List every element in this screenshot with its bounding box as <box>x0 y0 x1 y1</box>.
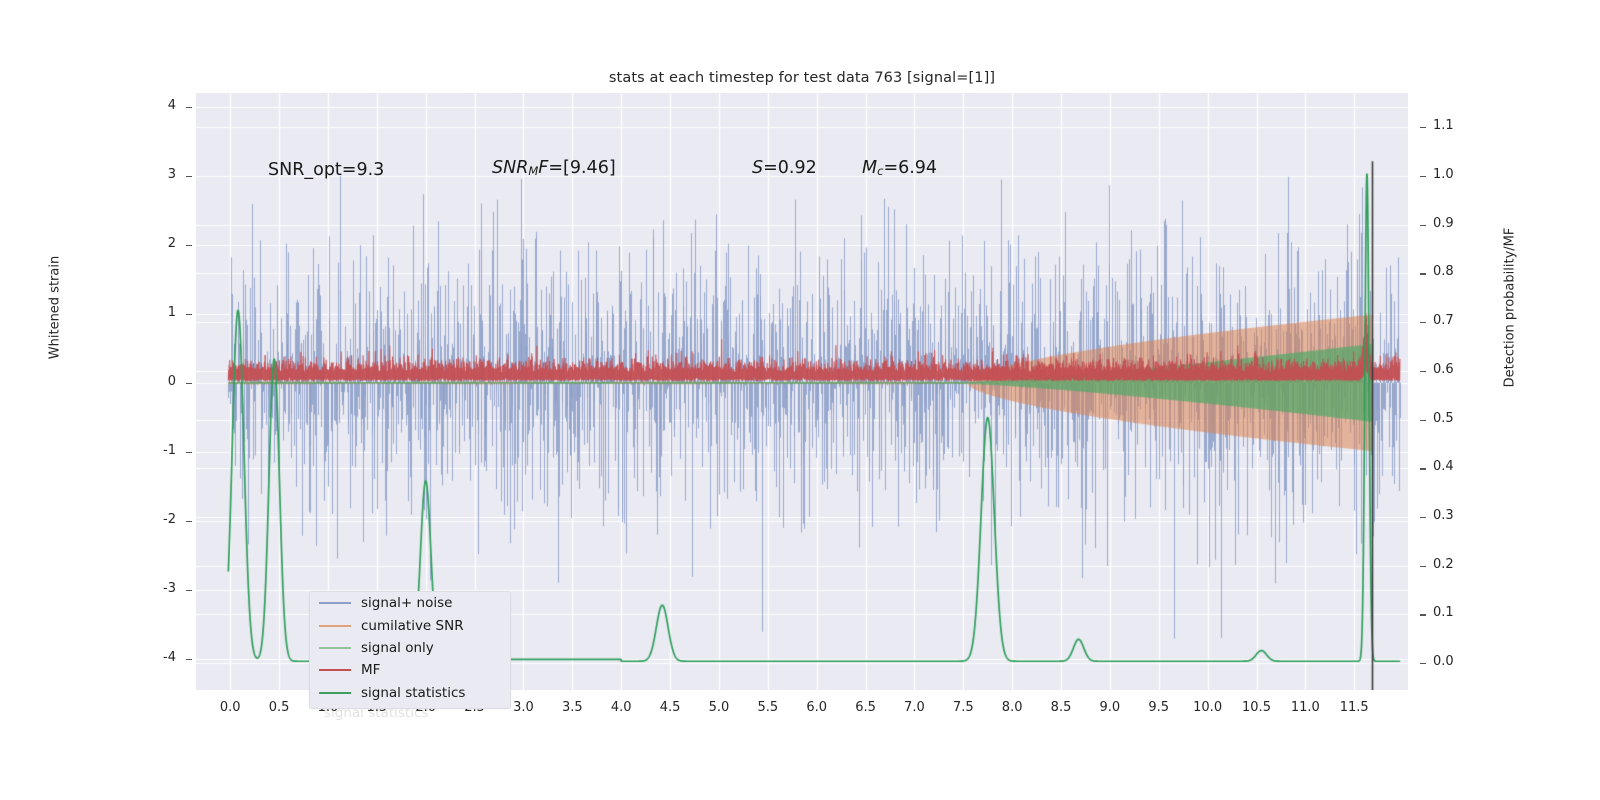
annotation-statistic-s: S=0.92 <box>752 158 817 178</box>
x-tick-label: 4.0 <box>597 700 645 715</box>
legend-item-label: signal only <box>361 640 434 656</box>
y-tick-mark-left <box>186 659 192 660</box>
x-tick-label: 10.0 <box>1184 700 1232 715</box>
x-tick-label: 11.5 <box>1330 700 1378 715</box>
legend-item-label: signal+ noise <box>361 595 452 611</box>
x-tick-label: 11.0 <box>1281 700 1329 715</box>
figure-root: stats at each timestep for test data 763… <box>0 0 1600 800</box>
y-tick-label-left: 1 <box>0 305 176 320</box>
legend-item[interactable]: signal statistics <box>310 682 510 704</box>
y-tick-label-left: -4 <box>0 650 176 665</box>
y-tick-label-right: 0.9 <box>1433 216 1454 231</box>
legend-item[interactable]: cumilative SNR <box>310 614 510 636</box>
x-tick-label: 10.5 <box>1233 700 1281 715</box>
y-tick-label-left: -1 <box>0 443 176 458</box>
x-tick-label: 3.5 <box>548 700 596 715</box>
x-tick-label: 8.0 <box>988 700 1036 715</box>
legend-color-swatch <box>319 602 351 604</box>
y-tick-mark-left <box>186 590 192 591</box>
y-tick-mark-right <box>1420 176 1426 177</box>
y-tick-mark-left <box>186 176 192 177</box>
y-tick-label-left: 2 <box>0 236 176 251</box>
legend-item[interactable]: signal+ noise <box>310 592 510 614</box>
legend-color-swatch <box>319 647 351 649</box>
legend-color-swatch <box>319 692 351 694</box>
y-tick-mark-right <box>1420 371 1426 372</box>
x-tick-label: 5.0 <box>695 700 743 715</box>
legend[interactable]: signal+ noisecumilative SNRsignal onlyMF… <box>309 591 511 709</box>
page-title: stats at each timestep for test data 763… <box>196 70 1408 86</box>
y-tick-mark-right <box>1420 322 1426 323</box>
x-tick-label: 7.5 <box>939 700 987 715</box>
x-tick-label: 7.0 <box>890 700 938 715</box>
y-tick-label-right: 0.7 <box>1433 313 1454 328</box>
y-tick-mark-right <box>1420 468 1426 469</box>
x-tick-label: 0.0 <box>206 700 254 715</box>
y-tick-label-right: 1.0 <box>1433 167 1454 182</box>
y-tick-label-right: 0.8 <box>1433 264 1454 279</box>
legend-color-swatch <box>319 625 351 627</box>
y-tick-mark-left <box>186 107 192 108</box>
x-tick-label: 5.5 <box>744 700 792 715</box>
y-tick-label-right: 0.3 <box>1433 508 1454 523</box>
y-tick-mark-left <box>186 245 192 246</box>
x-tick-label: 6.0 <box>793 700 841 715</box>
annotation-snr-mf: SNRMF=[9.46] <box>492 158 616 178</box>
annotation-snr-opt: SNR_opt=9.3 <box>268 160 384 180</box>
y-tick-label-right: 1.1 <box>1433 118 1454 133</box>
y-tick-mark-right <box>1420 273 1426 274</box>
y-tick-label-right: 0.0 <box>1433 654 1454 669</box>
y-tick-label-right: 0.4 <box>1433 459 1454 474</box>
y-tick-label-right: 0.1 <box>1433 605 1454 620</box>
legend-color-swatch <box>319 669 351 671</box>
x-tick-label: 8.5 <box>1037 700 1085 715</box>
y-tick-label-left: 4 <box>0 98 176 113</box>
legend-item-label: MF <box>361 662 380 678</box>
x-tick-label: 6.5 <box>842 700 890 715</box>
y-tick-mark-right <box>1420 566 1426 567</box>
y-tick-mark-right <box>1420 420 1426 421</box>
y-tick-mark-right <box>1420 517 1426 518</box>
x-tick-label: 0.5 <box>255 700 303 715</box>
y-tick-mark-right <box>1420 614 1426 615</box>
y-tick-mark-left <box>186 521 192 522</box>
x-tick-label: 9.5 <box>1135 700 1183 715</box>
legend-item[interactable]: MF <box>310 659 510 681</box>
y-tick-mark-right <box>1420 225 1426 226</box>
y-tick-label-right: 0.6 <box>1433 362 1454 377</box>
y-tick-label-left: -3 <box>0 581 176 596</box>
annotation-chirp-mass: Mc=6.94 <box>862 158 937 178</box>
y-tick-label-left: -2 <box>0 512 176 527</box>
y-tick-label-left: 0 <box>0 374 176 389</box>
x-tick-label: 4.5 <box>646 700 694 715</box>
y-tick-mark-left <box>186 383 192 384</box>
legend-item[interactable]: signal only <box>310 637 510 659</box>
y-tick-label-right: 0.2 <box>1433 557 1454 572</box>
legend-item-label: signal statistics <box>361 685 465 701</box>
y-tick-label-left: 3 <box>0 167 176 182</box>
y-tick-mark-left <box>186 314 192 315</box>
y-tick-label-right: 0.5 <box>1433 411 1454 426</box>
y-axis-label-right: Detection probability/MF <box>1503 198 1518 418</box>
y-tick-mark-right <box>1420 663 1426 664</box>
legend-item-label: cumilative SNR <box>361 618 464 634</box>
y-tick-mark-right <box>1420 127 1426 128</box>
x-tick-label: 9.0 <box>1086 700 1134 715</box>
y-tick-mark-left <box>186 452 192 453</box>
